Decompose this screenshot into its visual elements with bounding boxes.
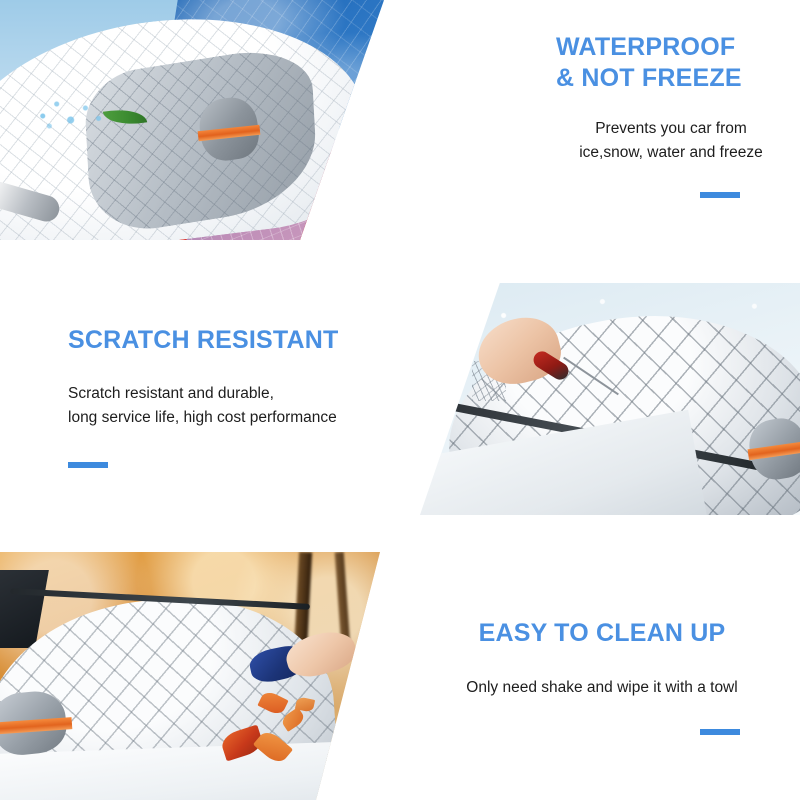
feature-description: Only need shake and wipe it with a towl <box>416 676 788 700</box>
feature-heading: SCRATCH RESISTANT <box>68 325 398 356</box>
feature-text-scratch-resistant: SCRATCH RESISTANT Scratch resistant and … <box>68 325 398 468</box>
feature-row-easy-to-clean-up: EASY TO CLEAN UP Only need shake and wip… <box>0 530 800 800</box>
feature-photo-scratch-resistant <box>420 283 800 515</box>
accent-bar <box>68 462 108 468</box>
feature-heading: EASY TO CLEAN UP <box>416 618 788 649</box>
accent-bar <box>700 192 740 198</box>
accent-bar <box>700 729 740 735</box>
feature-text-easy-to-clean-up: EASY TO CLEAN UP Only need shake and wip… <box>416 618 788 735</box>
water-splash <box>28 92 110 132</box>
feature-photo-waterproof <box>0 0 400 240</box>
feature-text-waterproof: WATERPROOF & NOT FREEZE Prevents you car… <box>556 32 786 198</box>
feature-description: Scratch resistant and durable, long serv… <box>68 382 398 429</box>
feature-row-scratch-resistant: SCRATCH RESISTANT Scratch resistant and … <box>0 265 800 530</box>
infographic-page: WATERPROOF & NOT FREEZE Prevents you car… <box>0 0 800 800</box>
feature-heading: WATERPROOF & NOT FREEZE <box>556 32 786 94</box>
feature-photo-easy-to-clean-up <box>0 552 400 800</box>
feature-description: Prevents you car from ice,snow, water an… <box>556 117 786 164</box>
feature-row-waterproof: WATERPROOF & NOT FREEZE Prevents you car… <box>0 0 800 265</box>
